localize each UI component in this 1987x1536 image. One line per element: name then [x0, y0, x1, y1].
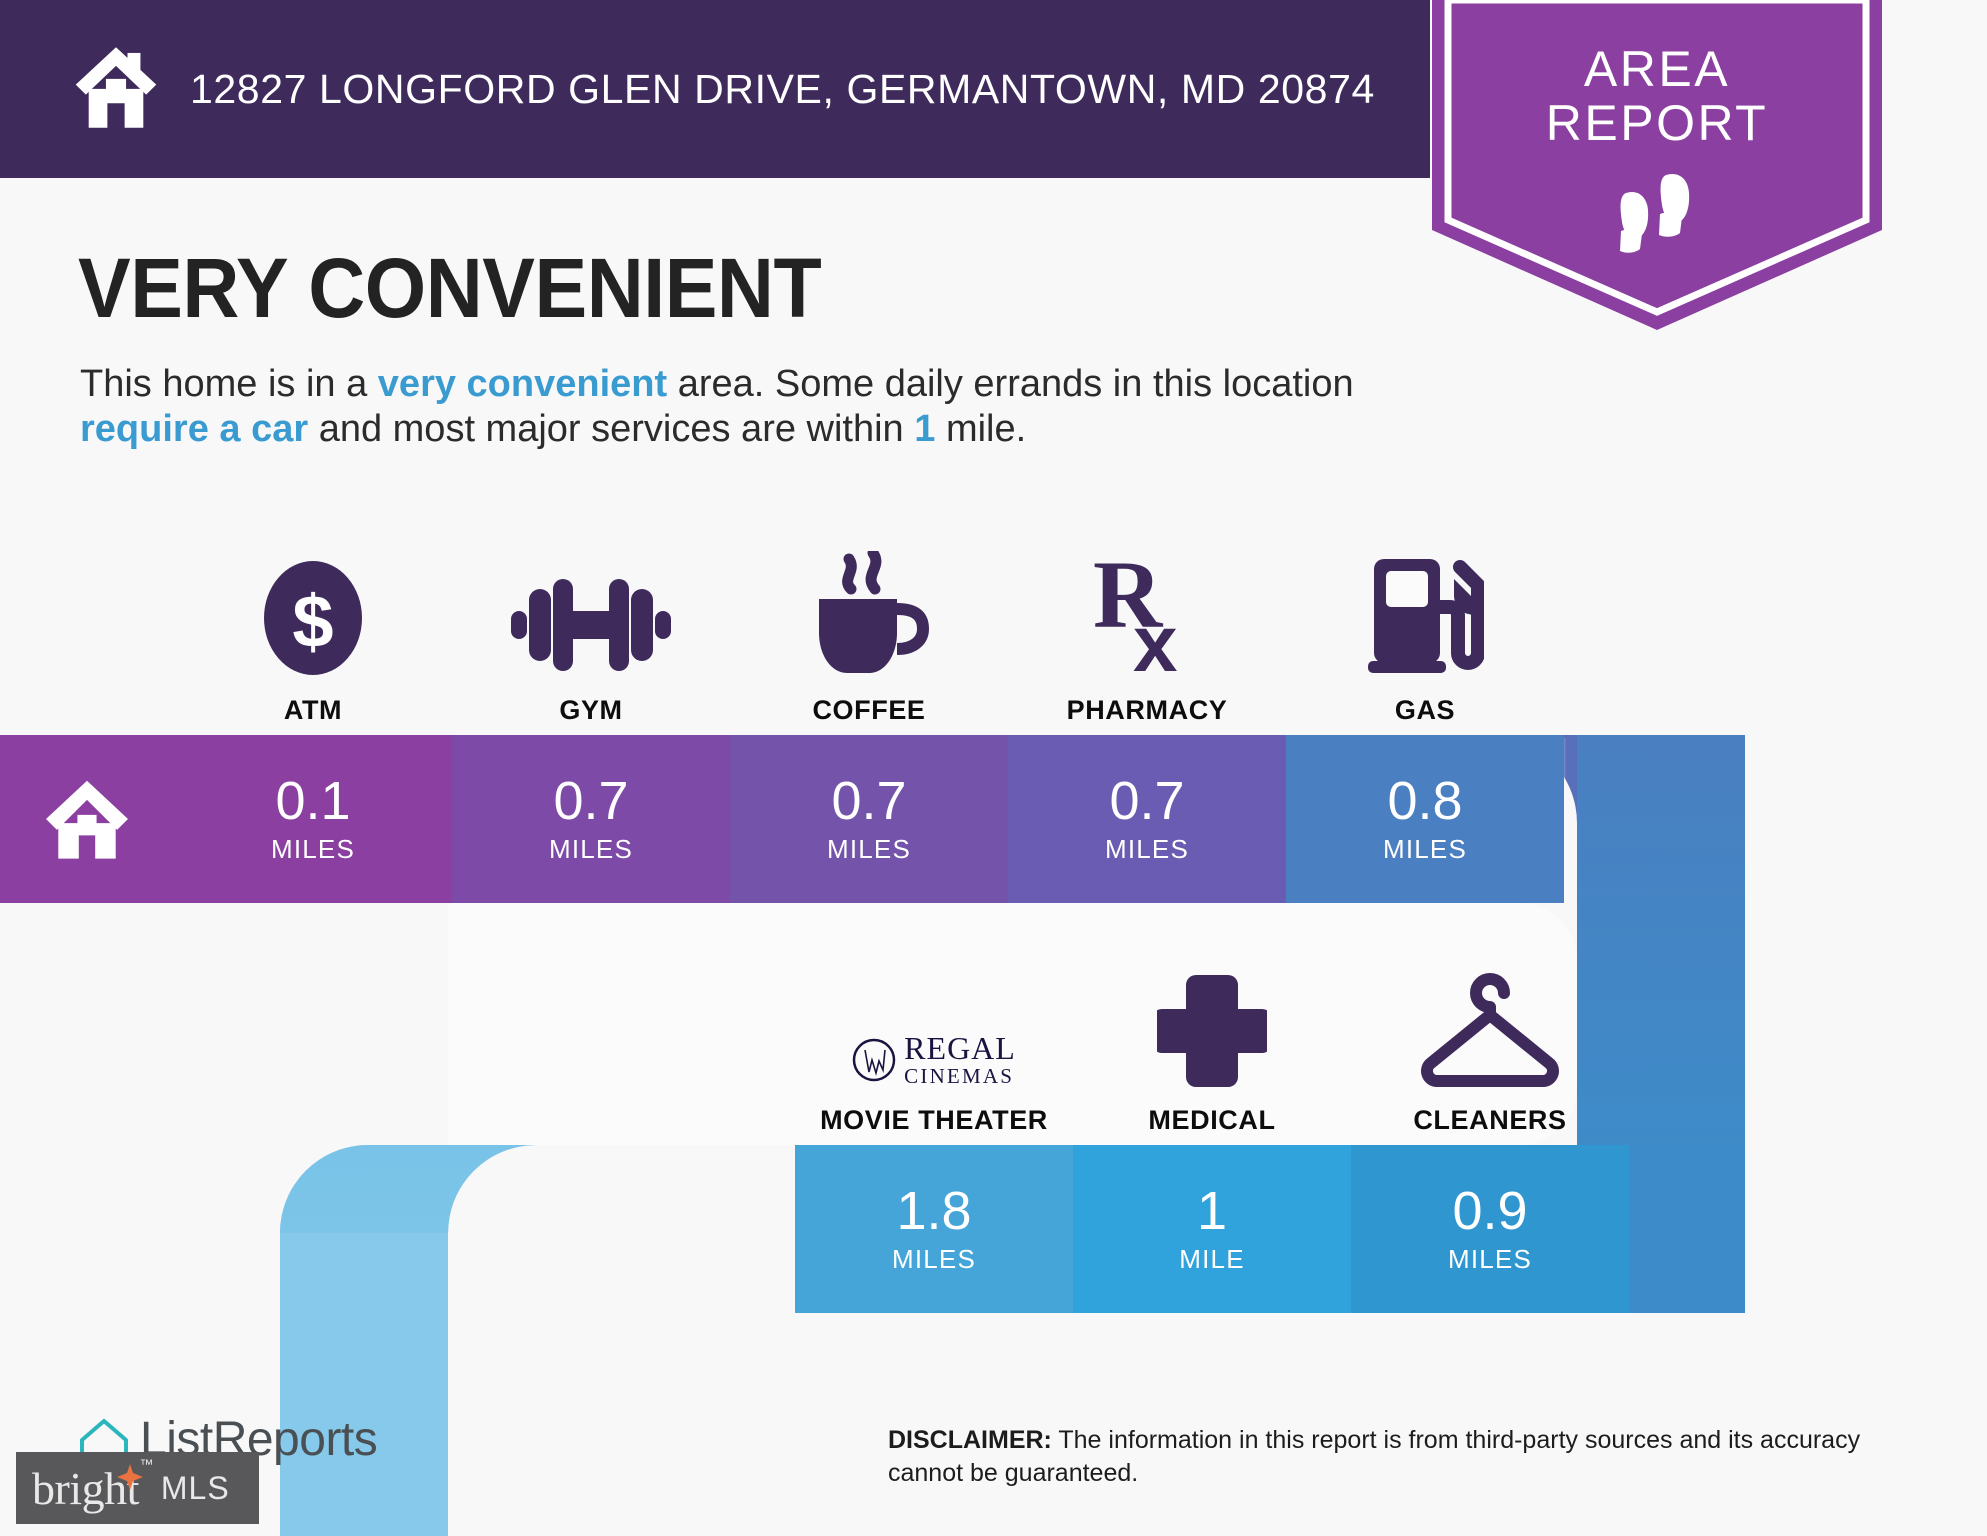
- dumbbell-icon: [511, 573, 671, 677]
- amenity-label: MOVIE THEATER: [820, 1105, 1048, 1136]
- lede-highlight-3: 1: [914, 408, 935, 450]
- distance-cell-pharmacy: 0.7 MILES: [1008, 735, 1286, 903]
- lede-highlight-1: very convenient: [378, 363, 667, 405]
- regal-emblem-icon: [852, 1038, 896, 1082]
- gas-pump-icon: [1366, 555, 1484, 677]
- amenity-label: GYM: [559, 695, 622, 726]
- distance-unit: MILES: [1105, 834, 1189, 865]
- distance-cell-gym: 0.7 MILES: [452, 735, 730, 903]
- distance-cell-movie-theater: 1.8 MILES: [795, 1145, 1073, 1313]
- atm-dollar-icon: $: [260, 559, 366, 677]
- regal-line-2: CINEMAS: [904, 1066, 1016, 1087]
- home-marker: [0, 735, 174, 903]
- regal-line-1: REGAL: [904, 1032, 1016, 1064]
- amenity-movie-theater: REGAL CINEMAS MOVIE THEATER: [795, 955, 1073, 1136]
- amenity-label: MEDICAL: [1148, 1105, 1275, 1136]
- lede-part-2: area. Some daily errands in this locatio…: [667, 363, 1353, 405]
- distance-value: 0.8: [1387, 774, 1462, 828]
- distance-unit: MILES: [1448, 1244, 1532, 1275]
- distance-unit: MILES: [549, 834, 633, 865]
- medical-cross-icon: [1157, 971, 1267, 1087]
- bright-mls-watermark: bright ™ MLS: [16, 1452, 259, 1524]
- distance-value: 0.1: [275, 774, 350, 828]
- distance-cell-atm: 0.1 MILES: [174, 735, 452, 903]
- amenity-label: PHARMACY: [1067, 695, 1228, 726]
- amenity-label: CLEANERS: [1413, 1105, 1566, 1136]
- clothes-hanger-icon: [1417, 967, 1563, 1087]
- distance-value: 0.7: [553, 774, 628, 828]
- svg-text:$: $: [292, 580, 333, 663]
- lede-part-1: This home is in a: [80, 363, 378, 405]
- amenity-icon-row-secondary: REGAL CINEMAS MOVIE THEATER MEDICAL CLEA…: [795, 955, 1629, 1136]
- home-icon: [70, 40, 162, 132]
- distance-unit: MILE: [1179, 1244, 1244, 1275]
- amenity-gym: GYM: [452, 545, 730, 726]
- badge-line-2: REPORT: [1432, 96, 1882, 150]
- area-report-badge: AREA REPORT: [1432, 0, 1882, 330]
- distance-value: 0.9: [1452, 1184, 1527, 1238]
- distance-cell-coffee: 0.7 MILES: [730, 735, 1008, 903]
- distance-row-secondary: 1.8 MILES 1 MILE 0.9 MILES: [795, 1145, 1629, 1313]
- badge-label: AREA REPORT: [1432, 42, 1882, 150]
- badge-line-1: AREA: [1432, 42, 1882, 96]
- amenity-label: GAS: [1395, 695, 1455, 726]
- coffee-cup-icon: [809, 551, 929, 677]
- amenity-gas: GAS: [1286, 545, 1564, 726]
- svg-text:x: x: [1133, 599, 1178, 677]
- bright-word: bright ™: [32, 1462, 139, 1515]
- distance-unit: MILES: [892, 1244, 976, 1275]
- regal-cinemas-logo-icon: REGAL CINEMAS: [852, 1032, 1016, 1087]
- distance-value: 0.7: [1109, 774, 1184, 828]
- amenity-icon-row-primary: $ ATM GYM COFFE: [174, 545, 1564, 726]
- distance-row-primary: 0.1 MILES 0.7 MILES 0.7 MILES 0.7 MILES …: [174, 735, 1564, 903]
- distance-value: 0.7: [831, 774, 906, 828]
- property-address: 12827 LONGFORD GLEN DRIVE, GERMANTOWN, M…: [190, 66, 1375, 113]
- prescription-rx-icon: R x: [1091, 549, 1203, 677]
- amenity-coffee: COFFEE: [730, 545, 1008, 726]
- mls-word: MLS: [161, 1470, 230, 1507]
- amenity-medical: MEDICAL: [1073, 955, 1351, 1136]
- distance-unit: MILES: [827, 834, 911, 865]
- home-icon: [43, 778, 131, 860]
- distance-value: 1: [1197, 1184, 1227, 1238]
- amenity-atm: $ ATM: [174, 545, 452, 726]
- summary-text: This home is in a very convenient area. …: [80, 362, 1410, 452]
- trademark-symbol: ™: [139, 1456, 153, 1472]
- distance-unit: MILES: [271, 834, 355, 865]
- amenity-cleaners: CLEANERS: [1351, 955, 1629, 1136]
- distance-cell-medical: 1 MILE: [1073, 1145, 1351, 1313]
- amenity-label: ATM: [284, 695, 342, 726]
- distance-unit: MILES: [1383, 834, 1467, 865]
- distance-cell-gas: 0.8 MILES: [1286, 735, 1564, 903]
- lede-part-3: and most major services are within: [308, 408, 914, 450]
- lede-part-4: mile.: [935, 408, 1026, 450]
- distance-value: 1.8: [896, 1184, 971, 1238]
- lede-highlight-2: require a car: [80, 408, 308, 450]
- amenity-label: COFFEE: [812, 695, 925, 726]
- header-bar: 12827 LONGFORD GLEN DRIVE, GERMANTOWN, M…: [0, 0, 1430, 178]
- distance-cell-cleaners: 0.9 MILES: [1351, 1145, 1629, 1313]
- page-title: VERY CONVENIENT: [78, 240, 821, 337]
- disclaimer-label: DISCLAIMER:: [888, 1426, 1052, 1454]
- disclaimer: DISCLAIMER: The information in this repo…: [888, 1424, 1928, 1490]
- amenity-pharmacy: R x PHARMACY: [1008, 545, 1286, 726]
